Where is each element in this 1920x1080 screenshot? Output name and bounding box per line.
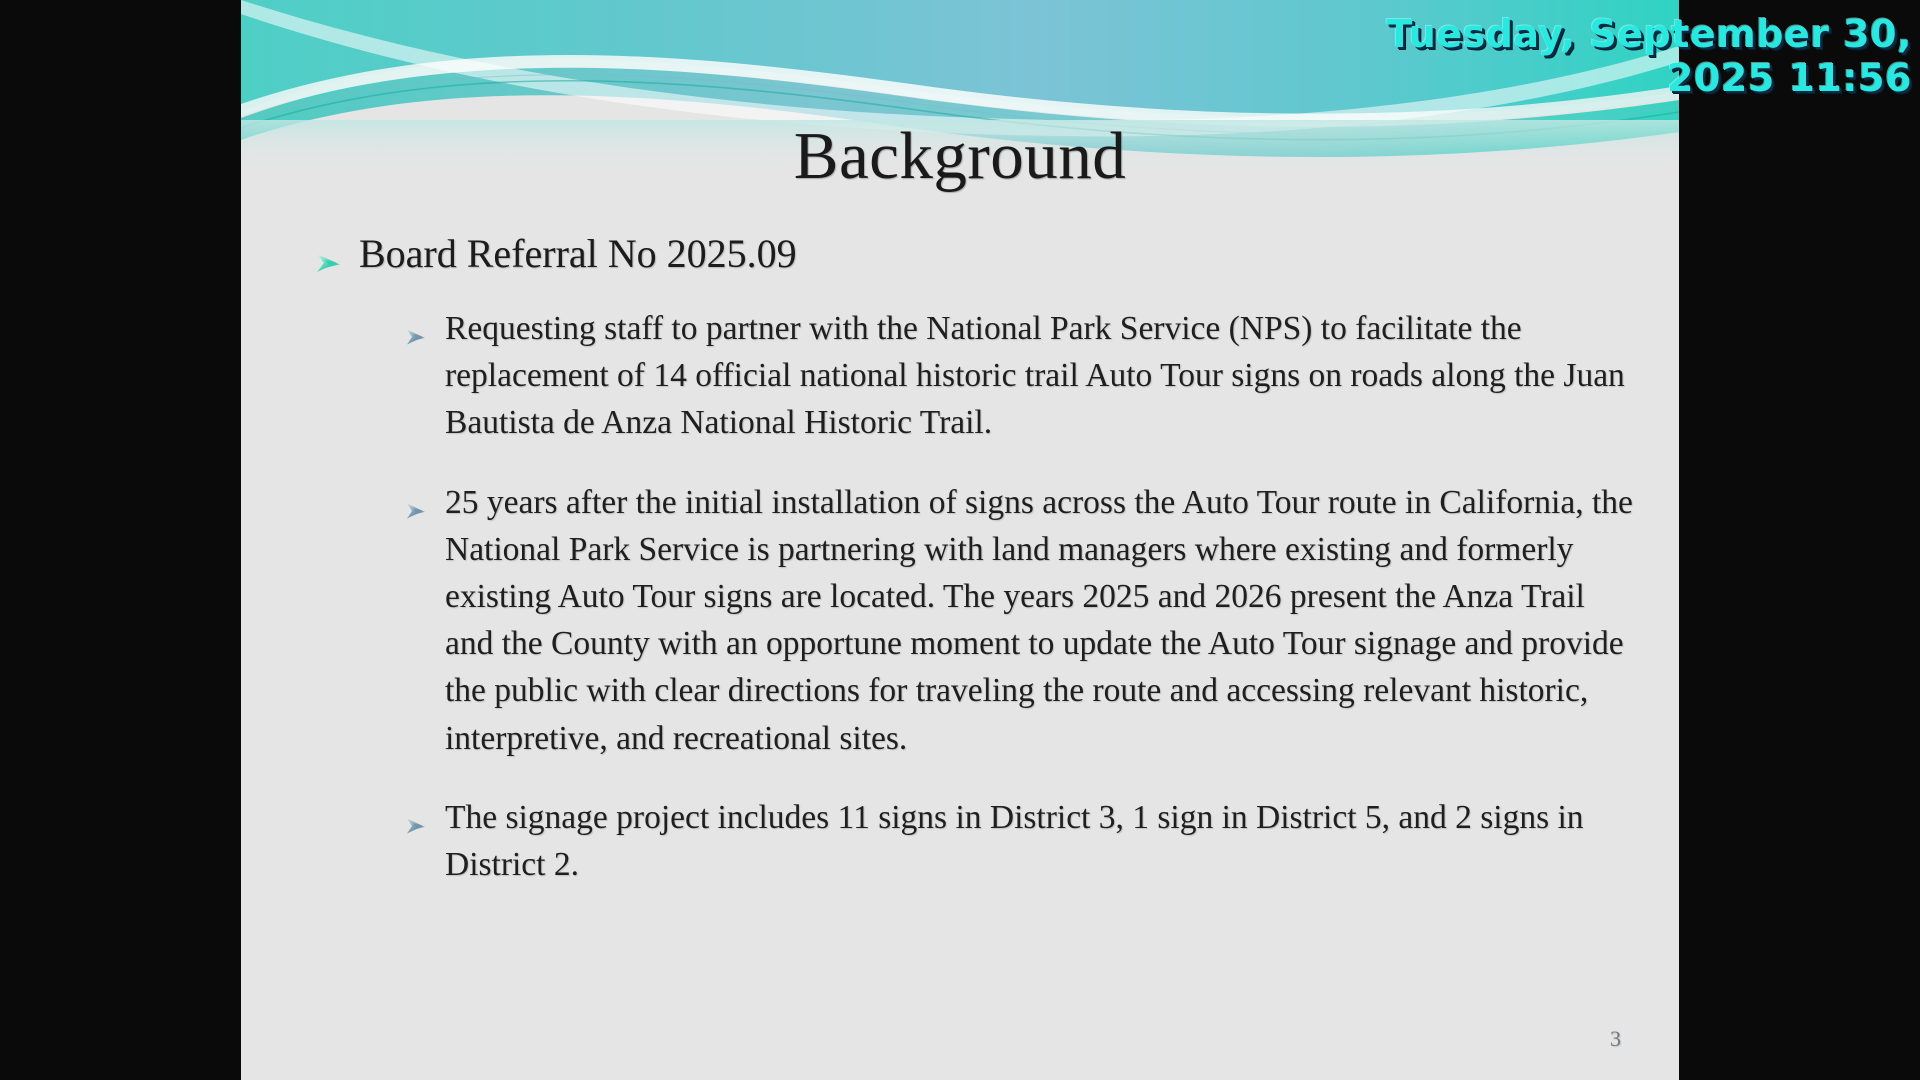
bullet-level2-text: Requesting staff to partner with the Nat… bbox=[445, 310, 1625, 441]
bullet-level2-text: The signage project includes 11 signs in… bbox=[445, 799, 1584, 883]
bullet-level2: 25 years after the initial installation … bbox=[399, 479, 1641, 762]
presentation-slide: Background bbox=[241, 0, 1679, 1080]
arrow-bullet-blue-icon bbox=[405, 488, 429, 509]
sub-bullet-list: Requesting staff to partner with the Nat… bbox=[399, 305, 1641, 889]
arrow-bullet-teal-icon bbox=[315, 240, 345, 266]
slide-page-number: 3 bbox=[1610, 1026, 1621, 1052]
bullet-level1: Board Referral No 2025.09 bbox=[311, 230, 1641, 279]
bullet-level2: The signage project includes 11 signs in… bbox=[399, 794, 1641, 888]
bullet-level2: Requesting staff to partner with the Nat… bbox=[399, 305, 1641, 447]
slide-body: Board Referral No 2025.09 bbox=[311, 230, 1641, 888]
bullet-level2-text: 25 years after the initial installation … bbox=[445, 484, 1633, 757]
arrow-bullet-blue-icon bbox=[405, 803, 429, 824]
video-frame: Background bbox=[0, 0, 1920, 1080]
timestamp-overlay: Tuesday, September 30, 2025 11:56 bbox=[1272, 12, 1912, 100]
page-title: Background bbox=[241, 118, 1679, 195]
bullet-level1-text: Board Referral No 2025.09 bbox=[359, 231, 797, 276]
arrow-bullet-blue-icon bbox=[405, 314, 429, 335]
